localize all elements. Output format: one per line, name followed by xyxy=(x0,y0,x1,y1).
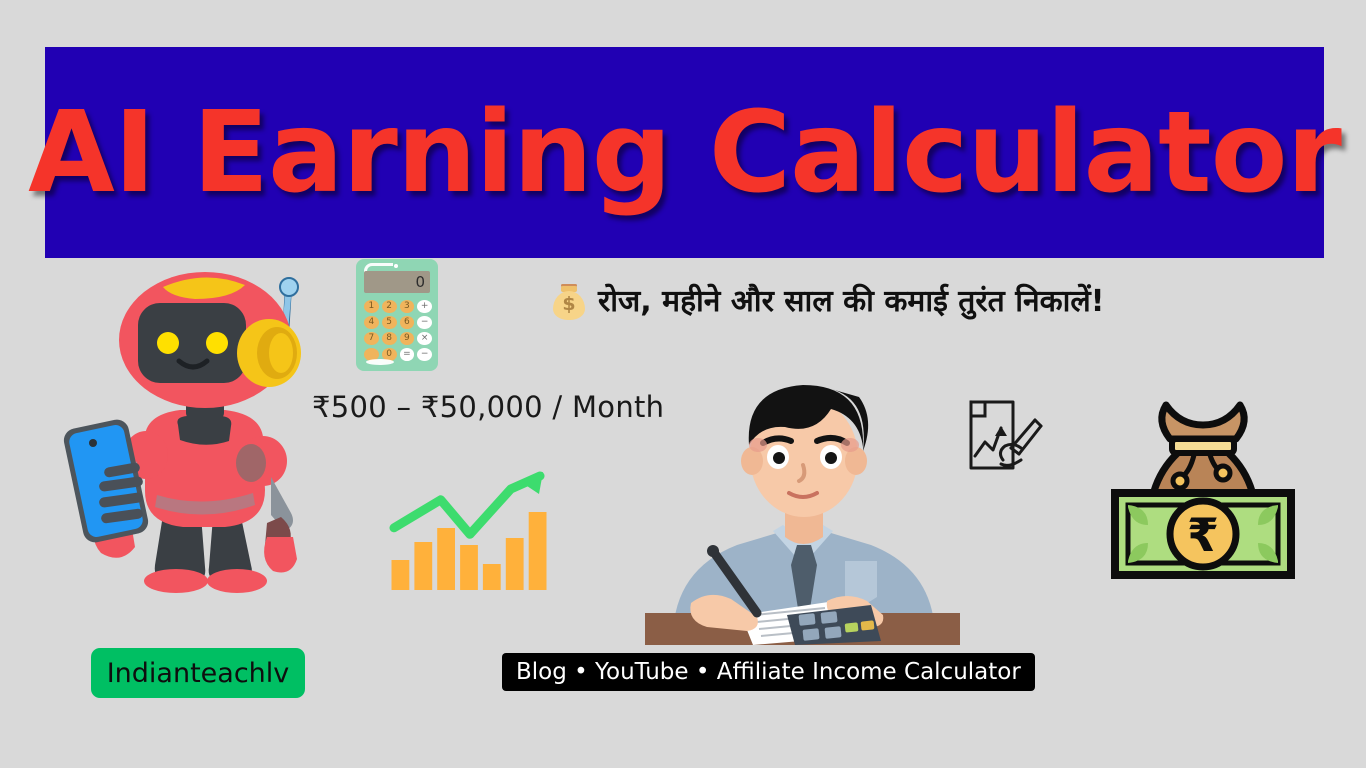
footer-tags-pill: Blog • YouTube • Affiliate Income Calcul… xyxy=(502,653,1035,691)
calculator-keypad: 123+456−789×0=− xyxy=(364,300,432,361)
chart-bar xyxy=(392,560,410,590)
chart-bar xyxy=(437,528,455,590)
dollar-sign: $ xyxy=(552,295,586,314)
calculator-key-7: 7 xyxy=(364,332,379,345)
calculator-key-3: 3 xyxy=(400,300,415,313)
page-title: AI Earning Calculator xyxy=(28,97,1341,209)
doc-chart-svg xyxy=(955,398,1043,476)
calculator-key-=: = xyxy=(400,348,415,361)
calculator-gloss-dot xyxy=(394,264,398,268)
calculator-key-4: 4 xyxy=(364,316,379,329)
chart-trend-arrow xyxy=(394,472,543,534)
poster-canvas: AI Earning Calculator xyxy=(0,0,1366,768)
calculator-key-2: 2 xyxy=(382,300,397,313)
calculator-key-6: 6 xyxy=(400,316,415,329)
chart-bar xyxy=(460,545,478,590)
calculator-key-−: − xyxy=(417,316,432,329)
tagline: $ रोज, महीने और साल की कमाई तुरंत निकाले… xyxy=(552,283,1104,321)
brand-badge[interactable]: Indianteachlv xyxy=(91,648,305,698)
robot-svg xyxy=(45,265,335,595)
rupee-symbol: ₹ xyxy=(1187,508,1219,562)
chart-bars xyxy=(392,512,547,590)
growth-chart-svg xyxy=(389,468,549,590)
robot-illustration xyxy=(45,265,335,595)
calculator-key-9: 9 xyxy=(400,332,415,345)
calculator-key-−: − xyxy=(417,348,432,361)
document-chart-pen-icon xyxy=(955,398,1043,476)
calculator-display: 0 xyxy=(364,271,430,293)
person-svg xyxy=(645,365,960,645)
calculator-key-1: 1 xyxy=(364,300,379,313)
tagline-text: रोज, महीने और साल की कमाई तुरंत निकालें! xyxy=(598,287,1104,317)
calculator-key-+: + xyxy=(417,300,432,313)
price-range-label: ₹500 – ₹50,000 / Month xyxy=(312,390,664,424)
chart-bar xyxy=(506,538,524,590)
person-illustration xyxy=(645,365,960,645)
title-banner: AI Earning Calculator xyxy=(45,47,1324,258)
calculator-icon: 0 123+456−789×0=− xyxy=(356,259,438,371)
calculator-gloss-bottom xyxy=(366,359,394,365)
chart-bar xyxy=(414,542,432,590)
calculator-key-8: 8 xyxy=(382,332,397,345)
chart-bar xyxy=(529,512,547,590)
money-bag-rupee-icon: ₹ xyxy=(1110,395,1296,600)
chart-bar xyxy=(483,564,501,590)
calculator-key-×: × xyxy=(417,332,432,345)
money-bag-emoji: $ xyxy=(552,283,586,321)
growth-bar-chart xyxy=(389,468,549,590)
money-svg: ₹ xyxy=(1110,395,1296,600)
calculator-key-5: 5 xyxy=(382,316,397,329)
